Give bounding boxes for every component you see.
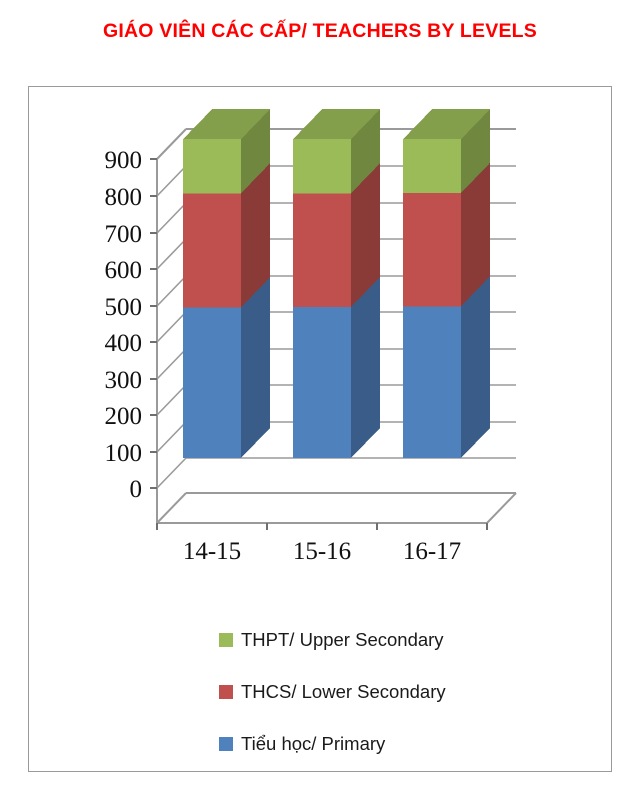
y-tick-200: 200 xyxy=(105,403,143,430)
legend-item-primary[interactable]: Tiểu học/ Primary xyxy=(29,718,613,770)
chart-legend: THPT/ Upper Secondary THCS/ Lower Second… xyxy=(29,614,613,770)
y-tick-700: 700 xyxy=(105,221,143,248)
bar-segment-front-0-0[interactable] xyxy=(183,307,241,458)
legend-swatch-icon-upper-secondary xyxy=(219,633,233,647)
bar-segment-side-1-0[interactable] xyxy=(351,277,380,458)
plot-svg: 900 800 700 600 500 400 300 200 100 0 xyxy=(29,87,613,587)
legend-item-upper-secondary[interactable]: THPT/ Upper Secondary xyxy=(29,614,613,666)
bar-segment-front-0-1[interactable] xyxy=(183,193,241,307)
y-tick-900: 900 xyxy=(105,147,143,174)
bar-segment-front-2-0[interactable] xyxy=(403,306,461,458)
bar-segment-front-1-1[interactable] xyxy=(293,193,351,307)
bar-segment-side-0-0[interactable] xyxy=(241,277,270,458)
x-axis-ticks xyxy=(157,523,487,530)
y-tick-300: 300 xyxy=(105,367,143,394)
y-axis-labels: 900 800 700 600 500 400 300 200 100 0 xyxy=(105,147,143,503)
legend-swatch-icon-lower-secondary xyxy=(219,685,233,699)
y-tick-100: 100 xyxy=(105,440,143,467)
plot-area: 900 800 700 600 500 400 300 200 100 0 xyxy=(29,87,613,587)
bar-segment-front-1-2[interactable] xyxy=(293,139,351,193)
legend-label-primary: Tiểu học/ Primary xyxy=(241,733,385,755)
chart-title: GIÁO VIÊN CÁC CẤP/ TEACHERS BY LEVELS xyxy=(0,20,640,43)
bar-segment-side-2-0[interactable] xyxy=(461,276,490,458)
bar-segment-front-2-2[interactable] xyxy=(403,139,461,193)
bar-segment-front-0-2[interactable] xyxy=(183,139,241,193)
chart-frame: 900 800 700 600 500 400 300 200 100 0 xyxy=(28,86,612,772)
y-tick-800: 800 xyxy=(105,184,143,211)
y-tick-400: 400 xyxy=(105,330,143,357)
bars-group xyxy=(183,109,490,458)
x-tick-15-16: 15-16 xyxy=(293,538,351,565)
y-tick-500: 500 xyxy=(105,294,143,321)
bar-segment-front-2-1[interactable] xyxy=(403,193,461,306)
bar-segment-front-1-0[interactable] xyxy=(293,307,351,458)
legend-label-upper-secondary: THPT/ Upper Secondary xyxy=(241,629,444,651)
legend-item-lower-secondary[interactable]: THCS/ Lower Secondary xyxy=(29,666,613,718)
legend-label-lower-secondary: THCS/ Lower Secondary xyxy=(241,681,446,703)
y-tick-600: 600 xyxy=(105,257,143,284)
x-axis-labels: 14-15 15-16 16-17 xyxy=(183,538,461,565)
legend-swatch-icon-primary xyxy=(219,737,233,751)
y-tick-0: 0 xyxy=(130,476,143,503)
y-axis-ticks xyxy=(150,159,157,488)
x-tick-14-15: 14-15 xyxy=(183,538,241,565)
x-tick-16-17: 16-17 xyxy=(403,538,461,565)
